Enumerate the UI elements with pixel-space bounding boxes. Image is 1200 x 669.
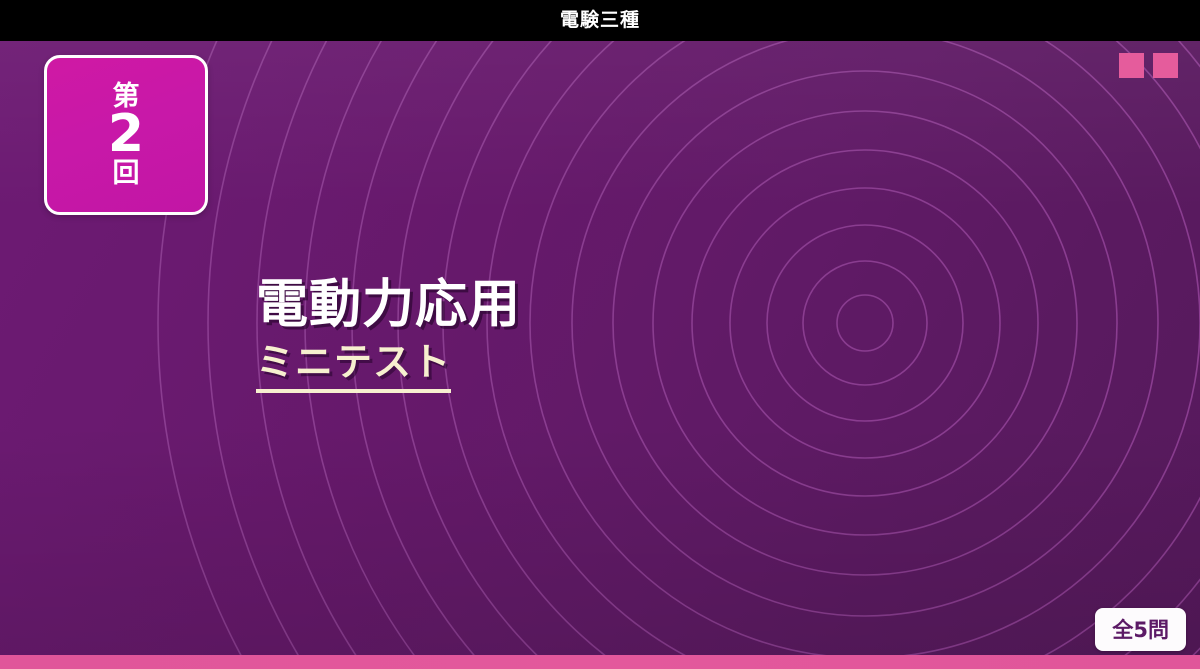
decor-squares-group: [1119, 53, 1178, 78]
page-title: 電動力応用: [256, 278, 521, 333]
slide-canvas: 電験三種: [0, 0, 1200, 669]
question-count-badge: 全5問: [1095, 608, 1186, 651]
episode-badge: 第 2 回: [44, 55, 208, 215]
page-subtitle: ミニテスト: [256, 343, 451, 393]
bottom-accent-bar: [0, 655, 1200, 669]
header-title: 電験三種: [0, 0, 1200, 41]
pink-square-icon-2: [1153, 53, 1178, 78]
title-block: 電動力応用 ミニテスト: [256, 278, 521, 393]
episode-badge-number: 2: [108, 111, 144, 159]
episode-badge-suffix: 回: [113, 160, 140, 187]
pink-square-icon-1: [1119, 53, 1144, 78]
header-bar: 電験三種: [0, 0, 1200, 41]
